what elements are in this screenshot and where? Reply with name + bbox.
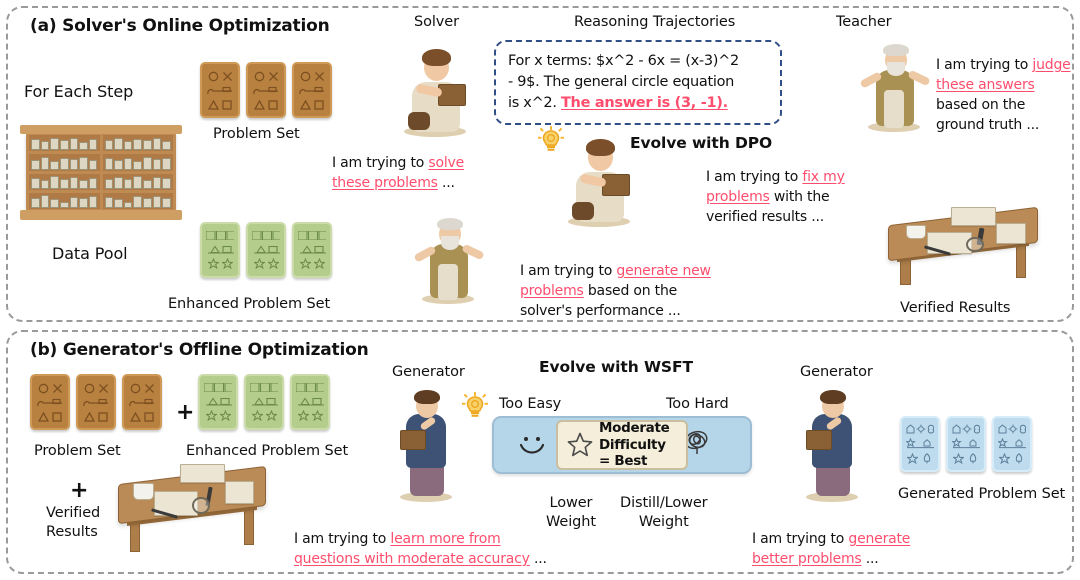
paper-sheet bbox=[225, 481, 255, 504]
panel-a-title: (a) Solver's Online Optimization bbox=[30, 16, 330, 36]
label-too-easy: Too Easy bbox=[499, 396, 561, 412]
speech-generate-new-problems: I am trying to generate new problems bas… bbox=[520, 262, 728, 322]
open-book bbox=[951, 207, 996, 226]
label-reasoning-trajectories: Reasoning Trajectories bbox=[574, 14, 735, 30]
paper-sheet bbox=[996, 223, 1026, 244]
problem-card bbox=[76, 374, 116, 430]
enhanced-problem-card bbox=[292, 222, 332, 278]
problem-set-cards-a bbox=[200, 62, 332, 118]
cup-icon bbox=[906, 225, 926, 240]
bubble-answer: The answer is (3, -1). bbox=[561, 95, 728, 111]
label-distill-lower-weight: Distill/Lower Weight bbox=[620, 494, 708, 532]
generator-figure-right bbox=[796, 386, 866, 504]
speech-learn-prefix: I am trying to bbox=[294, 531, 390, 547]
shelf-top-trim bbox=[20, 125, 182, 134]
star-icon bbox=[567, 432, 593, 458]
desk-leg bbox=[1016, 242, 1027, 278]
enhanced-problem-set-cards-b bbox=[198, 374, 330, 430]
generated-problem-card bbox=[946, 416, 986, 472]
generated-problem-card bbox=[900, 416, 940, 472]
lightbulb-icon bbox=[462, 392, 488, 424]
speech-generate-better: I am trying to generate better problems … bbox=[752, 530, 952, 570]
diagram-canvas: (a) Solver's Online Optimization For Eac… bbox=[0, 0, 1080, 580]
label-evolve-with-dpo: Evolve with DPO bbox=[630, 134, 772, 152]
enhanced-problem-card bbox=[290, 374, 330, 430]
label-verified-results-b: Verified Results bbox=[46, 504, 100, 542]
moderate-difficulty-card: Moderate Difficulty = Best bbox=[556, 420, 688, 470]
speech-learn-more: I am trying to learn more from questions… bbox=[294, 530, 558, 570]
verified-results-desk-b bbox=[118, 462, 266, 558]
data-pool-bookshelf bbox=[26, 132, 176, 212]
speech-learn-suffix: ... bbox=[530, 551, 547, 567]
bubble-line-3-prefix: is x^2. bbox=[508, 95, 561, 111]
magnifying-glass-icon bbox=[966, 237, 984, 252]
label-problem-set-a: Problem Set bbox=[213, 126, 300, 142]
generated-problem-card bbox=[992, 416, 1032, 472]
bubble-line-2: - 9$. The general circle equation bbox=[508, 72, 768, 93]
label-enhanced-problem-set-a: Enhanced Problem Set bbox=[168, 296, 330, 312]
label-generator-right: Generator bbox=[800, 364, 873, 380]
shelf-base-trim bbox=[20, 210, 182, 220]
solver-evolved-figure bbox=[562, 130, 638, 228]
speech-solver-prefix: I am trying to bbox=[332, 155, 428, 171]
label-verified-results-a: Verified Results bbox=[900, 300, 1010, 316]
label-evolve-with-wsft: Evolve with WSFT bbox=[539, 358, 693, 376]
shelf-body bbox=[26, 132, 176, 212]
enhanced-problem-card bbox=[200, 222, 240, 278]
label-generated-problem-set: Generated Problem Set bbox=[898, 486, 1065, 502]
label-problem-set-b: Problem Set bbox=[34, 443, 121, 459]
speech-fix-prefix: I am trying to bbox=[706, 169, 802, 185]
speech-generate-better-prefix: I am trying to bbox=[752, 531, 848, 547]
label-generator-left: Generator bbox=[392, 364, 465, 380]
problem-card bbox=[246, 62, 286, 118]
teacher-figure bbox=[858, 36, 930, 132]
smiley-face-icon bbox=[516, 432, 548, 464]
speech-teacher: I am trying to judge these answers based… bbox=[936, 56, 1072, 136]
magnifying-glass-icon bbox=[192, 497, 210, 514]
speech-teacher-suffix: based on the ground truth ... bbox=[936, 97, 1039, 133]
generator-figure-left bbox=[390, 386, 460, 504]
enhanced-problem-card bbox=[198, 374, 238, 430]
label-data-pool: Data Pool bbox=[52, 244, 128, 263]
plus-sign-1: + bbox=[176, 400, 194, 425]
label-too-hard: Too Hard bbox=[666, 396, 729, 412]
open-book bbox=[180, 464, 224, 483]
enhanced-problem-set-cards-a bbox=[200, 222, 332, 278]
plus-sign-2: + bbox=[70, 478, 88, 503]
speech-teacher-prefix: I am trying to bbox=[936, 57, 1032, 73]
enhanced-problem-card bbox=[244, 374, 284, 430]
cup-icon bbox=[133, 483, 154, 500]
problem-card bbox=[200, 62, 240, 118]
speech-generate-better-suffix: ... bbox=[862, 551, 879, 567]
label-for-each-step: For Each Step bbox=[24, 82, 133, 101]
problem-set-cards-b bbox=[30, 374, 162, 430]
speech-fix-problems: I am trying to fix my problems with the … bbox=[706, 168, 872, 228]
label-teacher: Teacher bbox=[836, 14, 892, 30]
panel-b-title: (b) Generator's Offline Optimization bbox=[30, 340, 369, 360]
bubble-line-3: is x^2. The answer is (3, -1). bbox=[508, 93, 768, 114]
speech-generate-prefix: I am trying to bbox=[520, 263, 616, 279]
enhanced-problem-card bbox=[246, 222, 286, 278]
label-enhanced-problem-set-b: Enhanced Problem Set bbox=[186, 443, 348, 459]
solver-figure bbox=[398, 38, 474, 138]
label-solver: Solver bbox=[414, 14, 459, 30]
lightbulb-icon bbox=[538, 126, 564, 158]
moderate-difficulty-text: Moderate Difficulty = Best bbox=[599, 420, 670, 469]
speech-solver: I am trying to solve these problems ... bbox=[332, 154, 484, 194]
verified-results-desk-a bbox=[888, 204, 1038, 290]
speech-solver-suffix: ... bbox=[438, 175, 455, 191]
generated-problem-set-cards bbox=[900, 416, 1032, 472]
problem-card bbox=[30, 374, 70, 430]
problem-card bbox=[292, 62, 332, 118]
label-lower-weight: Lower Weight bbox=[546, 494, 596, 532]
teacher-generate-figure bbox=[412, 212, 484, 304]
bubble-line-1: For x terms: $x^2 - 6x = (x-3)^2 bbox=[508, 51, 768, 72]
problem-card bbox=[122, 374, 162, 430]
reasoning-trajectory-bubble: For x terms: $x^2 - 6x = (x-3)^2 - 9$. T… bbox=[494, 40, 782, 125]
